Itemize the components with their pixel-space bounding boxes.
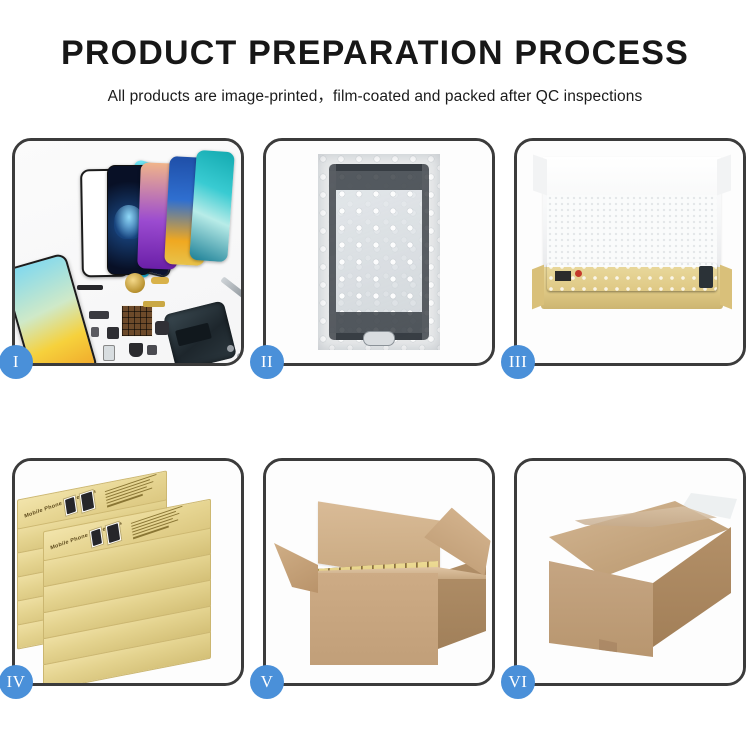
step-1-image bbox=[15, 141, 241, 363]
flex-cable-part-4 bbox=[89, 311, 109, 319]
box-art-phone-left-1 bbox=[63, 494, 79, 517]
process-step-panel-5[interactable]: V bbox=[263, 458, 495, 686]
carton-front-panel bbox=[310, 573, 438, 665]
process-step-panel-1[interactable]: I bbox=[12, 138, 244, 366]
carton-front-face bbox=[549, 561, 653, 657]
step-5-image bbox=[266, 461, 492, 683]
wrapped-screen-in-box bbox=[547, 263, 717, 291]
phone-display-fan bbox=[41, 149, 231, 279]
process-step-grid: I II III bbox=[12, 138, 738, 686]
connector-part-2 bbox=[107, 327, 119, 339]
step-badge-2: II bbox=[250, 345, 284, 379]
step-badge-3: III bbox=[501, 345, 535, 379]
carton-seam-mark-upper bbox=[599, 639, 617, 663]
sim-tray-part bbox=[103, 345, 115, 361]
box-art-phone-right-1 bbox=[89, 526, 105, 549]
step-badge-5: V bbox=[250, 665, 284, 699]
foam-insert bbox=[547, 195, 717, 267]
process-step-panel-3[interactable]: III bbox=[514, 138, 746, 366]
phone-back-housing-part bbox=[163, 300, 237, 363]
carton-flap-left bbox=[274, 543, 318, 593]
vibration-motor-part bbox=[125, 273, 145, 293]
step-6-image bbox=[517, 461, 743, 683]
page-title: PRODUCT PREPARATION PROCESS bbox=[0, 36, 750, 70]
red-marker-dot bbox=[575, 270, 582, 277]
step-badge-1: I bbox=[0, 345, 33, 379]
screw-part-2 bbox=[237, 353, 241, 360]
box-art-phone-right-2 bbox=[105, 521, 123, 546]
connector-part-1 bbox=[91, 327, 99, 337]
tweezers-tool bbox=[220, 276, 241, 299]
page-header: PRODUCT PREPARATION PROCESS All products… bbox=[0, 0, 750, 106]
box-art-phone-left-2 bbox=[79, 489, 97, 514]
spare-parts-cluster bbox=[77, 271, 241, 363]
process-step-panel-4[interactable]: Mobile Phone Spare Parts Mobile Phone Sp… bbox=[12, 458, 244, 686]
flex-cable-part-3 bbox=[143, 301, 165, 307]
button-part bbox=[147, 345, 157, 355]
process-step-panel-2[interactable]: II bbox=[263, 138, 495, 366]
flex-cable-part-2 bbox=[151, 277, 169, 284]
step-badge-4: IV bbox=[0, 665, 33, 699]
step-badge-6: VI bbox=[501, 665, 535, 699]
page-subtitle: All products are image-printed，film-coat… bbox=[0, 84, 750, 106]
box-sticker-label bbox=[555, 271, 571, 281]
sealed-carton bbox=[531, 487, 737, 667]
screw-part-1 bbox=[227, 345, 234, 352]
open-carton bbox=[272, 491, 492, 671]
step-3-image bbox=[517, 141, 743, 363]
screw-tray-part bbox=[121, 305, 153, 337]
camera-module-part bbox=[155, 321, 169, 335]
speaker-part bbox=[129, 343, 143, 357]
phone-screen-teal bbox=[189, 150, 235, 262]
flex-cable-part-1 bbox=[77, 285, 103, 290]
wrapped-screen-glass bbox=[329, 164, 429, 340]
retail-box-stack: Mobile Phone Spare Parts Mobile Phone Sp… bbox=[15, 479, 241, 675]
process-step-panel-6[interactable]: VI bbox=[514, 458, 746, 686]
bubble-wrap-sheet bbox=[318, 154, 440, 350]
step-4-image: Mobile Phone Spare Parts Mobile Phone Sp… bbox=[15, 461, 241, 683]
home-button-cutout bbox=[363, 331, 395, 346]
step-2-image bbox=[266, 141, 492, 363]
